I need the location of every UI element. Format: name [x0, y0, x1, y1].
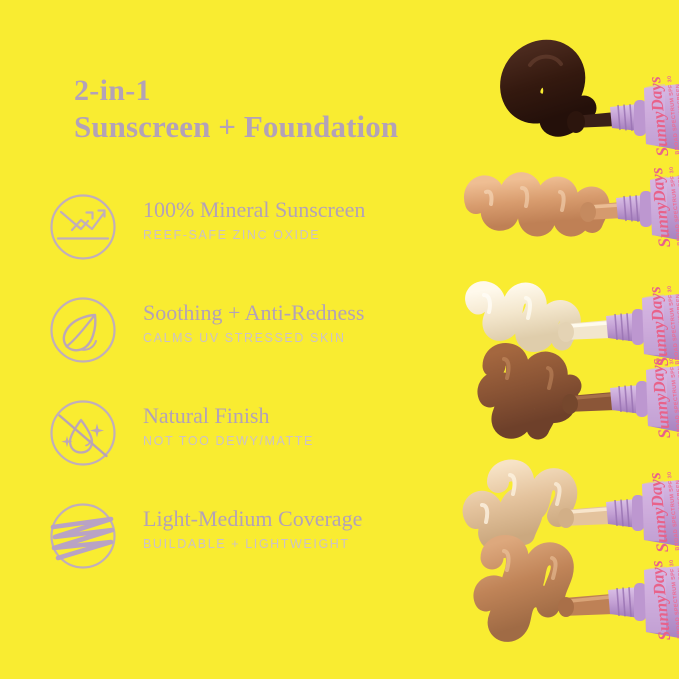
feature-row: Light-Medium Coverage BUILDABLE + LIGHTW…: [48, 497, 468, 600]
feature-subtitle: NOT TOO DEWY/MATTE: [143, 430, 468, 452]
feature-row: Natural Finish NOT TOO DEWY/MATTE: [48, 394, 468, 497]
feature-title: 100% Mineral Sunscreen: [143, 196, 468, 224]
product-unit[interactable]: SunnyDays BROAD SPECTRUM SPF 30 TINTED S…: [470, 322, 679, 458]
coverage-scribble-icon: [48, 501, 118, 571]
feature-text-block: Light-Medium Coverage BUILDABLE + LIGHTW…: [143, 505, 468, 555]
feature-row: 100% Mineral Sunscreen REEF-SAFE ZINC OX…: [48, 188, 468, 291]
product-unit[interactable]: SunnyDays BROAD SPECTRUM SPF 30 TINTED S…: [466, 4, 679, 142]
headline-line-2: Sunscreen + Foundation: [74, 108, 504, 146]
feature-subtitle: CALMS UV STRESSED SKIN: [143, 327, 468, 349]
feature-text-block: Natural Finish NOT TOO DEWY/MATTE: [143, 402, 468, 452]
feature-row: Soothing + Anti-Redness CALMS UV STRESSE…: [48, 291, 468, 394]
feature-title: Natural Finish: [143, 402, 468, 430]
uv-reflect-icon: [48, 192, 118, 262]
leaf-icon: [48, 295, 118, 365]
page-title: 2-in-1 Sunscreen + Foundation: [74, 74, 504, 146]
feature-list: 100% Mineral Sunscreen REEF-SAFE ZINC OX…: [48, 188, 468, 600]
feature-title: Soothing + Anti-Redness: [143, 299, 468, 327]
feature-text-block: Soothing + Anti-Redness CALMS UV STRESSE…: [143, 299, 468, 349]
feature-text-block: 100% Mineral Sunscreen REEF-SAFE ZINC OX…: [143, 196, 468, 246]
product-infographic: 2-in-1 Sunscreen + Foundation 100% Miner…: [0, 0, 679, 679]
no-dewy-droplet-icon: [48, 398, 118, 468]
feature-subtitle: REEF-SAFE ZINC OXIDE: [143, 224, 468, 246]
feature-title: Light-Medium Coverage: [143, 505, 468, 533]
product-unit[interactable]: SunnyDays BROAD SPECTRUM SPF 30 TINTED S…: [470, 140, 679, 266]
product-unit[interactable]: SunnyDays BROAD SPECTRUM SPF 30 TINTED S…: [470, 524, 679, 664]
headline-line-1: 2-in-1: [74, 74, 504, 108]
feature-subtitle: BUILDABLE + LIGHTWEIGHT: [143, 533, 468, 555]
